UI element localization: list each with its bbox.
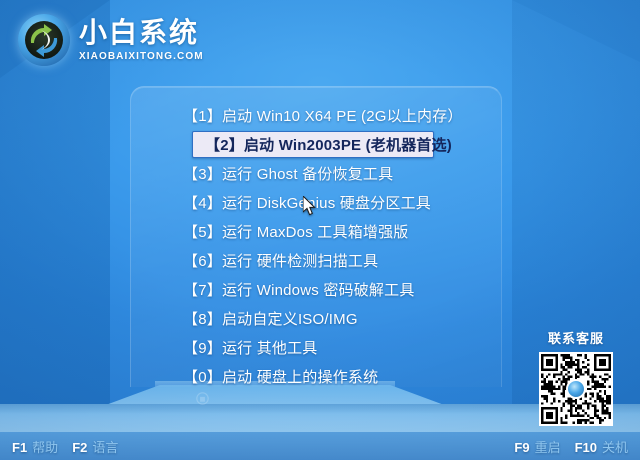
floor-emblem-icon [196,392,209,405]
brand-name-en: XIAOBAIXITONG.COM [79,52,204,62]
boot-menu-screen: 小白系统 XIAOBAIXITONG.COM 【1】启动 Win10 X64 P… [0,0,640,460]
menu-item-8[interactable]: 【8】启动自定义ISO/IMG [130,305,500,332]
customer-service-title: 联系客服 [536,328,616,347]
menu-item-5[interactable]: 【5】运行 MaxDos 工具箱增强版 [130,218,500,245]
qr-code-icon[interactable] [539,352,613,426]
hotkey-key: F9 [514,440,529,455]
hotkey-f1[interactable]: F1帮助 [12,437,58,456]
hotkey-footer: F1帮助F2语言 F9重启F10关机 [0,432,640,460]
menu-item-1[interactable]: 【1】启动 Win10 X64 PE (2G以上内存） [130,102,500,129]
stage-left-wall [0,0,110,460]
hotkey-key: F2 [72,440,87,455]
brand-name-cn: 小白系统 [79,19,204,47]
hotkey-f9[interactable]: F9重启 [514,437,560,456]
stage-right-corner [512,0,640,62]
hotkey-label: 关机 [602,437,628,456]
menu-item-0[interactable]: 【0】启动 硬盘上的操作系统 [130,363,500,390]
menu-item-4[interactable]: 【4】运行 DiskGenius 硬盘分区工具 [130,189,500,216]
qr-center-logo-icon [566,379,586,399]
brand-logo: 小白系统 XIAOBAIXITONG.COM [18,14,204,66]
boot-menu-list: 【1】启动 Win10 X64 PE (2G以上内存）【2】启动 Win2003… [130,100,500,392]
menu-item-7[interactable]: 【7】运行 Windows 密码破解工具 [130,276,500,303]
menu-item-9[interactable]: 【9】运行 其他工具 [130,334,500,361]
menu-item-3[interactable]: 【3】运行 Ghost 备份恢复工具 [130,160,500,187]
customer-service-block[interactable]: 联系客服 [536,328,616,426]
hotkey-key: F1 [12,440,27,455]
hotkey-key: F10 [575,440,597,455]
recycle-arrows-icon [25,21,63,59]
hotkey-label: 语言 [92,437,118,456]
hotkey-f10[interactable]: F10关机 [575,437,628,456]
menu-item-6[interactable]: 【6】运行 硬件检测扫描工具 [130,247,500,274]
hotkeys-left: F1帮助F2语言 [12,437,118,456]
hotkey-f2[interactable]: F2语言 [72,437,118,456]
hotkey-label: 重启 [535,437,561,456]
hotkey-label: 帮助 [32,437,58,456]
menu-item-2[interactable]: 【2】启动 Win2003PE (老机器首选) [192,131,434,158]
recycle-circle-logo-icon [18,14,70,66]
hotkeys-right: F9重启F10关机 [514,437,628,456]
